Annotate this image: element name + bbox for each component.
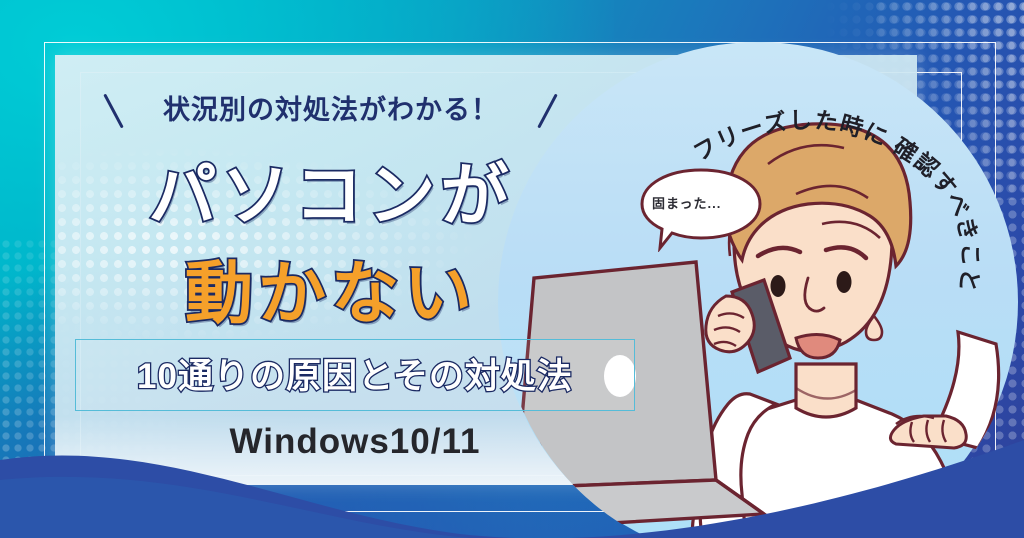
subtitle-text: 10通りの原因とその対処法 bbox=[75, 348, 635, 399]
os-version-label: Windows10/11 bbox=[75, 422, 635, 462]
banner-canvas: フリーズした時に 確認すべきこと！ 固まった... 状況別の対処法がわかる！ パ… bbox=[0, 0, 1024, 538]
tagline: 状況別の対処法がわかる！ bbox=[96, 88, 566, 127]
headline-line2: 動かない bbox=[96, 238, 566, 337]
headline-line1: パソコンが bbox=[96, 140, 566, 239]
speech-bubble-label: 固まった... bbox=[652, 193, 721, 212]
